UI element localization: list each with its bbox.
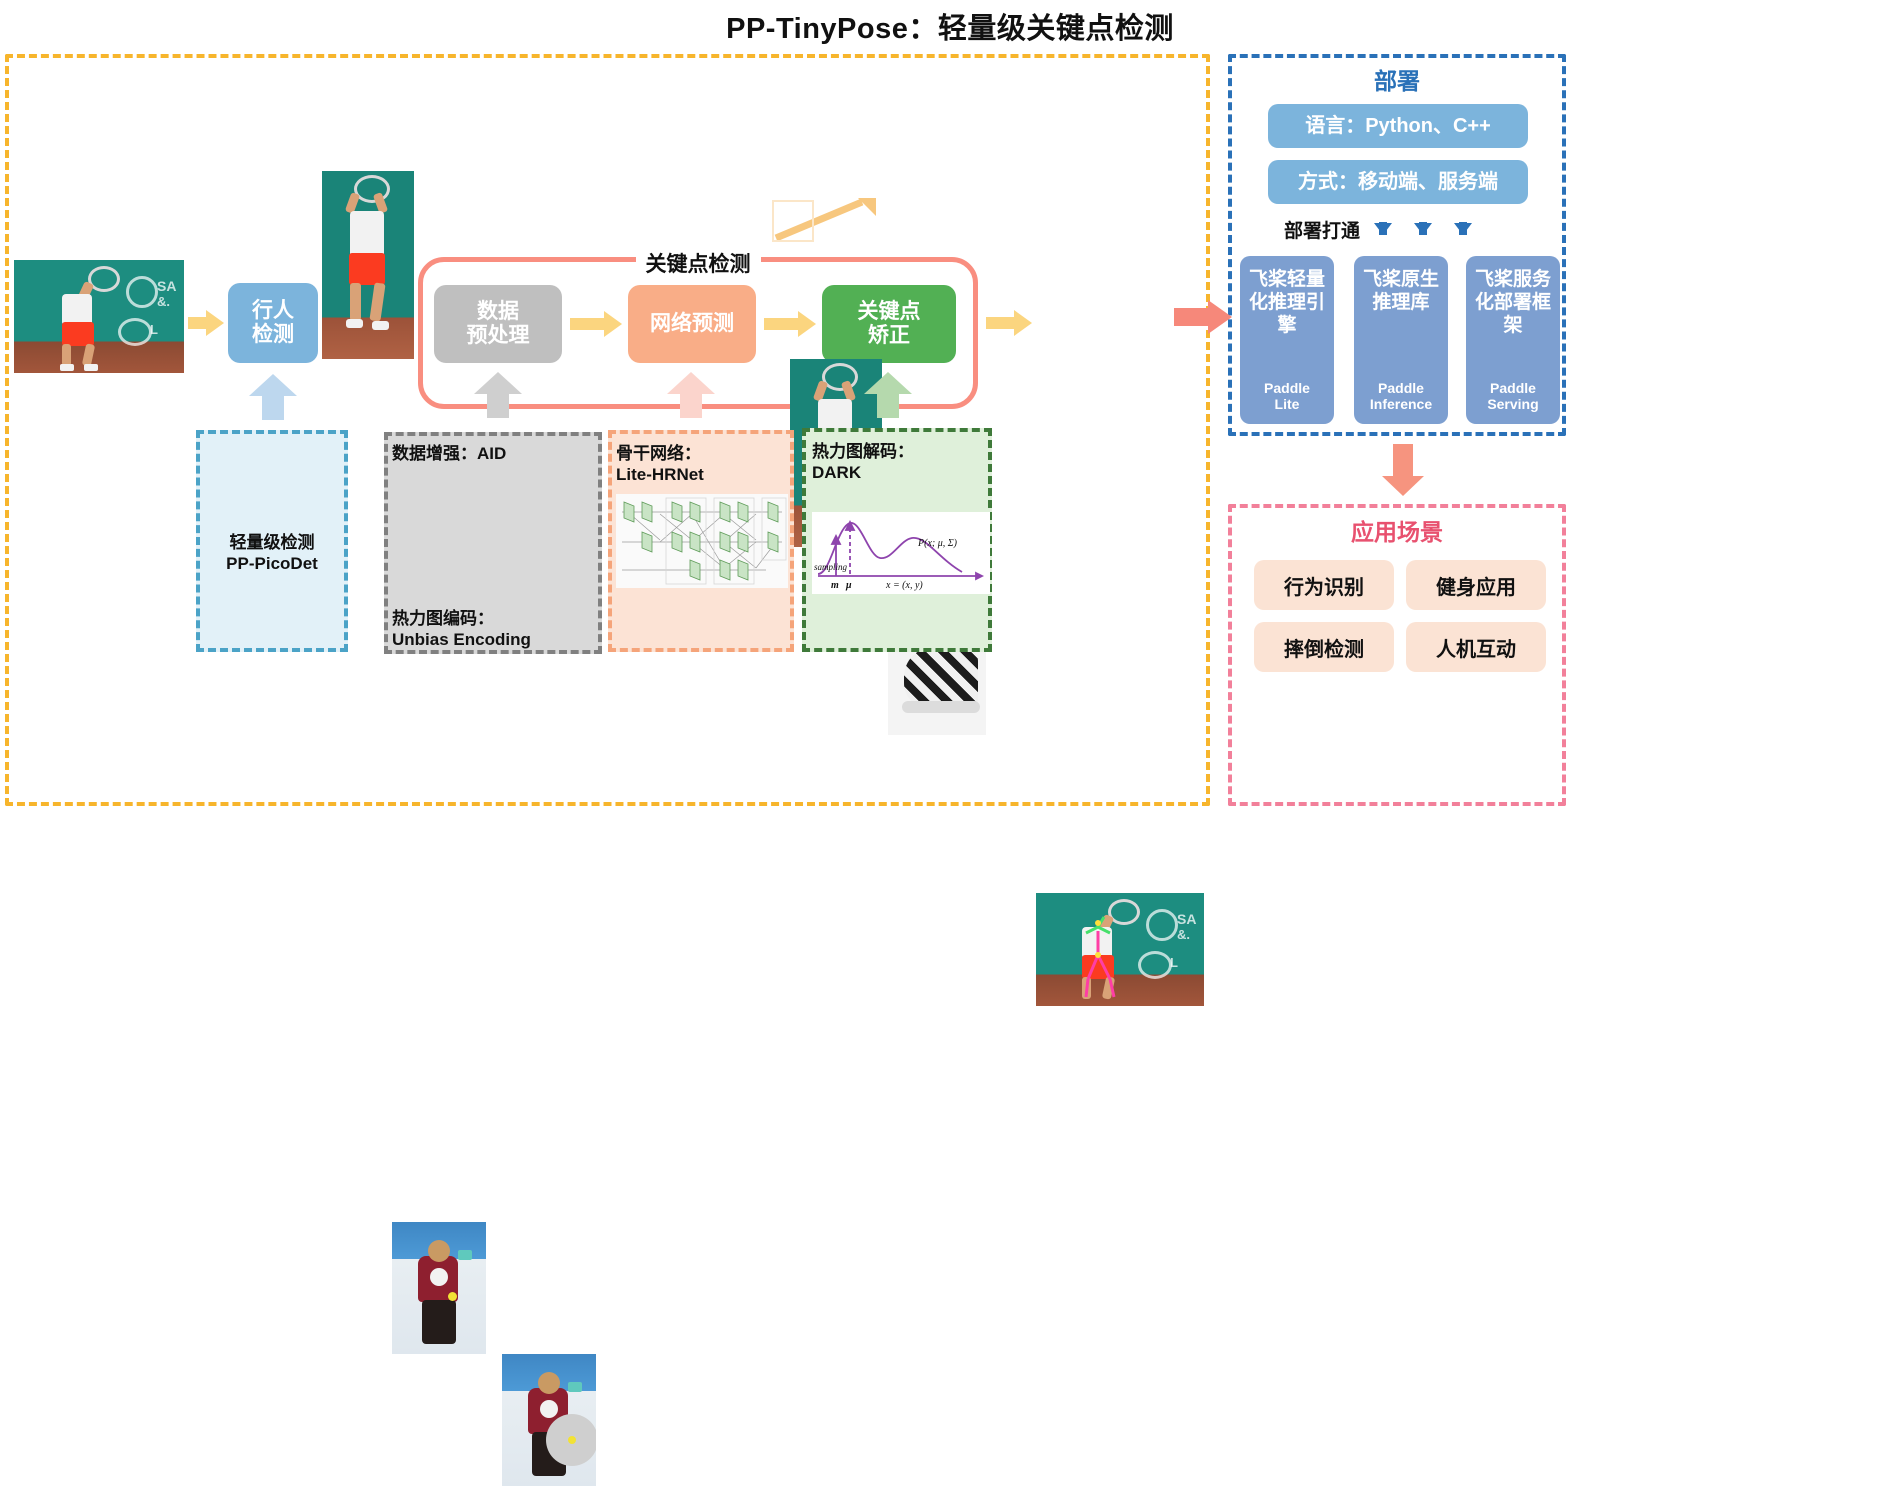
input-photo: SA &. L bbox=[14, 260, 184, 373]
applications-grid: 行为识别 健身应用 摔倒检测 人机互动 bbox=[1254, 560, 1546, 672]
output-photo: SA &. L bbox=[1036, 893, 1204, 1006]
pose-photo-top-left bbox=[322, 171, 414, 359]
deployment-title: 部署 bbox=[1228, 62, 1566, 96]
step-refine-line2: 矫正 bbox=[858, 324, 921, 348]
pedestrian-detection-box[interactable]: 行人 检测 bbox=[228, 283, 318, 363]
dark-chart: sampling m μ x = (x, y) P(x; μ, Σ) bbox=[812, 512, 990, 594]
up-arrow-detector bbox=[249, 374, 297, 420]
deploy-col-3-cn: 飞桨服务化部署框架 bbox=[1466, 268, 1560, 338]
step-refine-line1: 关键点 bbox=[858, 300, 921, 324]
down-arrow-3 bbox=[1454, 223, 1472, 235]
flow-arrow-1 bbox=[188, 310, 224, 336]
app-chip-2[interactable]: 摔倒检测 bbox=[1254, 622, 1394, 672]
deployment-column-paddle-lite[interactable]: 飞桨轻量化推理引擎 PaddleLite bbox=[1240, 256, 1334, 424]
applications-title: 应用场景 bbox=[1228, 512, 1566, 548]
app-chip-1[interactable]: 健身应用 bbox=[1406, 560, 1546, 610]
flow-arrow-3 bbox=[570, 311, 624, 337]
flow-arrow-4 bbox=[764, 311, 818, 337]
deploy-col-1-en: PaddleLite bbox=[1264, 380, 1310, 412]
step-preprocess[interactable]: 数据 预处理 bbox=[434, 285, 562, 363]
up-arrow-decode bbox=[864, 372, 912, 418]
page-title: PP-TinyPose：轻量级关键点检测 bbox=[0, 2, 1900, 50]
detector-label-2: PP-PicoDet bbox=[196, 553, 348, 574]
aid-image-augmented bbox=[502, 1354, 596, 1486]
step-preprocess-line2: 预处理 bbox=[467, 324, 530, 348]
app-chip-0[interactable]: 行为识别 bbox=[1254, 560, 1394, 610]
deployment-chip-language[interactable]: 语言：Python、C++ bbox=[1268, 104, 1528, 148]
backbone-label: 骨干网络： Lite-HRNet bbox=[616, 443, 796, 486]
dark-mu-label: μ bbox=[845, 580, 852, 591]
decode-label: 热力图解码： DARK bbox=[812, 441, 988, 484]
deployment-open-label: 部署打通 bbox=[1284, 216, 1360, 243]
decode-label-2: DARK bbox=[812, 462, 988, 483]
backbone-label-2: Lite-HRNet bbox=[616, 464, 796, 485]
down-arrow-2 bbox=[1414, 223, 1432, 235]
aid-image-original bbox=[392, 1222, 486, 1354]
deploy-col-3-en: PaddleServing bbox=[1487, 380, 1538, 412]
up-arrow-network bbox=[667, 372, 715, 418]
detector-subpanel-label: 轻量级检测 PP-PicoDet bbox=[196, 532, 348, 575]
deploy-col-2-en: PaddleInference bbox=[1370, 380, 1432, 412]
deployment-column-paddle-inference[interactable]: 飞桨原生推理库 PaddleInference bbox=[1354, 256, 1448, 424]
step-network-line1: 网络预测 bbox=[650, 312, 734, 336]
down-arrow-1 bbox=[1374, 223, 1392, 235]
pedestrian-line1: 行人 bbox=[252, 299, 294, 323]
pedestrian-line2: 检测 bbox=[252, 323, 294, 347]
deployment-open-row: 部署打通 bbox=[1238, 212, 1558, 246]
app-chip-3[interactable]: 人机互动 bbox=[1406, 622, 1546, 672]
keypoint-group-title: 关键点检测 bbox=[418, 248, 978, 278]
decode-label-1: 热力图解码： bbox=[812, 441, 988, 462]
up-arrow-preprocess bbox=[474, 372, 522, 418]
hrnet-diagram bbox=[616, 494, 788, 588]
detector-label-1: 轻量级检测 bbox=[196, 532, 348, 553]
aid-label: 数据增强：AID bbox=[392, 443, 598, 464]
step-preprocess-line1: 数据 bbox=[467, 300, 530, 324]
flow-arrow-5 bbox=[986, 310, 1034, 336]
unbias-encoding-label: 热力图编码： Unbias Encoding bbox=[392, 608, 598, 651]
deployment-column-paddle-serving[interactable]: 飞桨服务化部署框架 PaddleServing bbox=[1466, 256, 1560, 424]
dark-m-label: m bbox=[831, 580, 839, 591]
dark-p-label: P(x; μ, Σ) bbox=[917, 538, 958, 549]
step-network-prediction[interactable]: 网络预测 bbox=[628, 285, 756, 363]
dark-sampling-label: sampling bbox=[814, 562, 848, 572]
deploy-col-1-cn: 飞桨轻量化推理引擎 bbox=[1240, 268, 1334, 338]
keypoint-title-text: 关键点检测 bbox=[636, 248, 761, 278]
deploy-col-2-cn: 飞桨原生推理库 bbox=[1354, 268, 1448, 314]
unbias-label-1: 热力图编码： bbox=[392, 608, 598, 629]
diagram-root: PP-TinyPose：轻量级关键点检测 SA &. L 行人 检测 bbox=[0, 0, 1900, 820]
deployment-arrow bbox=[1174, 300, 1232, 334]
deployment-chip-method[interactable]: 方式：移动端、服务端 bbox=[1268, 160, 1528, 204]
skeleton-overlay bbox=[1036, 893, 1204, 1006]
deployment-to-apps-arrow bbox=[1382, 444, 1424, 496]
zoom-callout-frame bbox=[772, 200, 814, 242]
backbone-label-1: 骨干网络： bbox=[616, 443, 796, 464]
unbias-label-2: Unbias Encoding bbox=[392, 629, 598, 650]
dark-x-label: x = (x, y) bbox=[885, 580, 923, 591]
step-keypoint-refine[interactable]: 关键点 矫正 bbox=[822, 285, 956, 363]
